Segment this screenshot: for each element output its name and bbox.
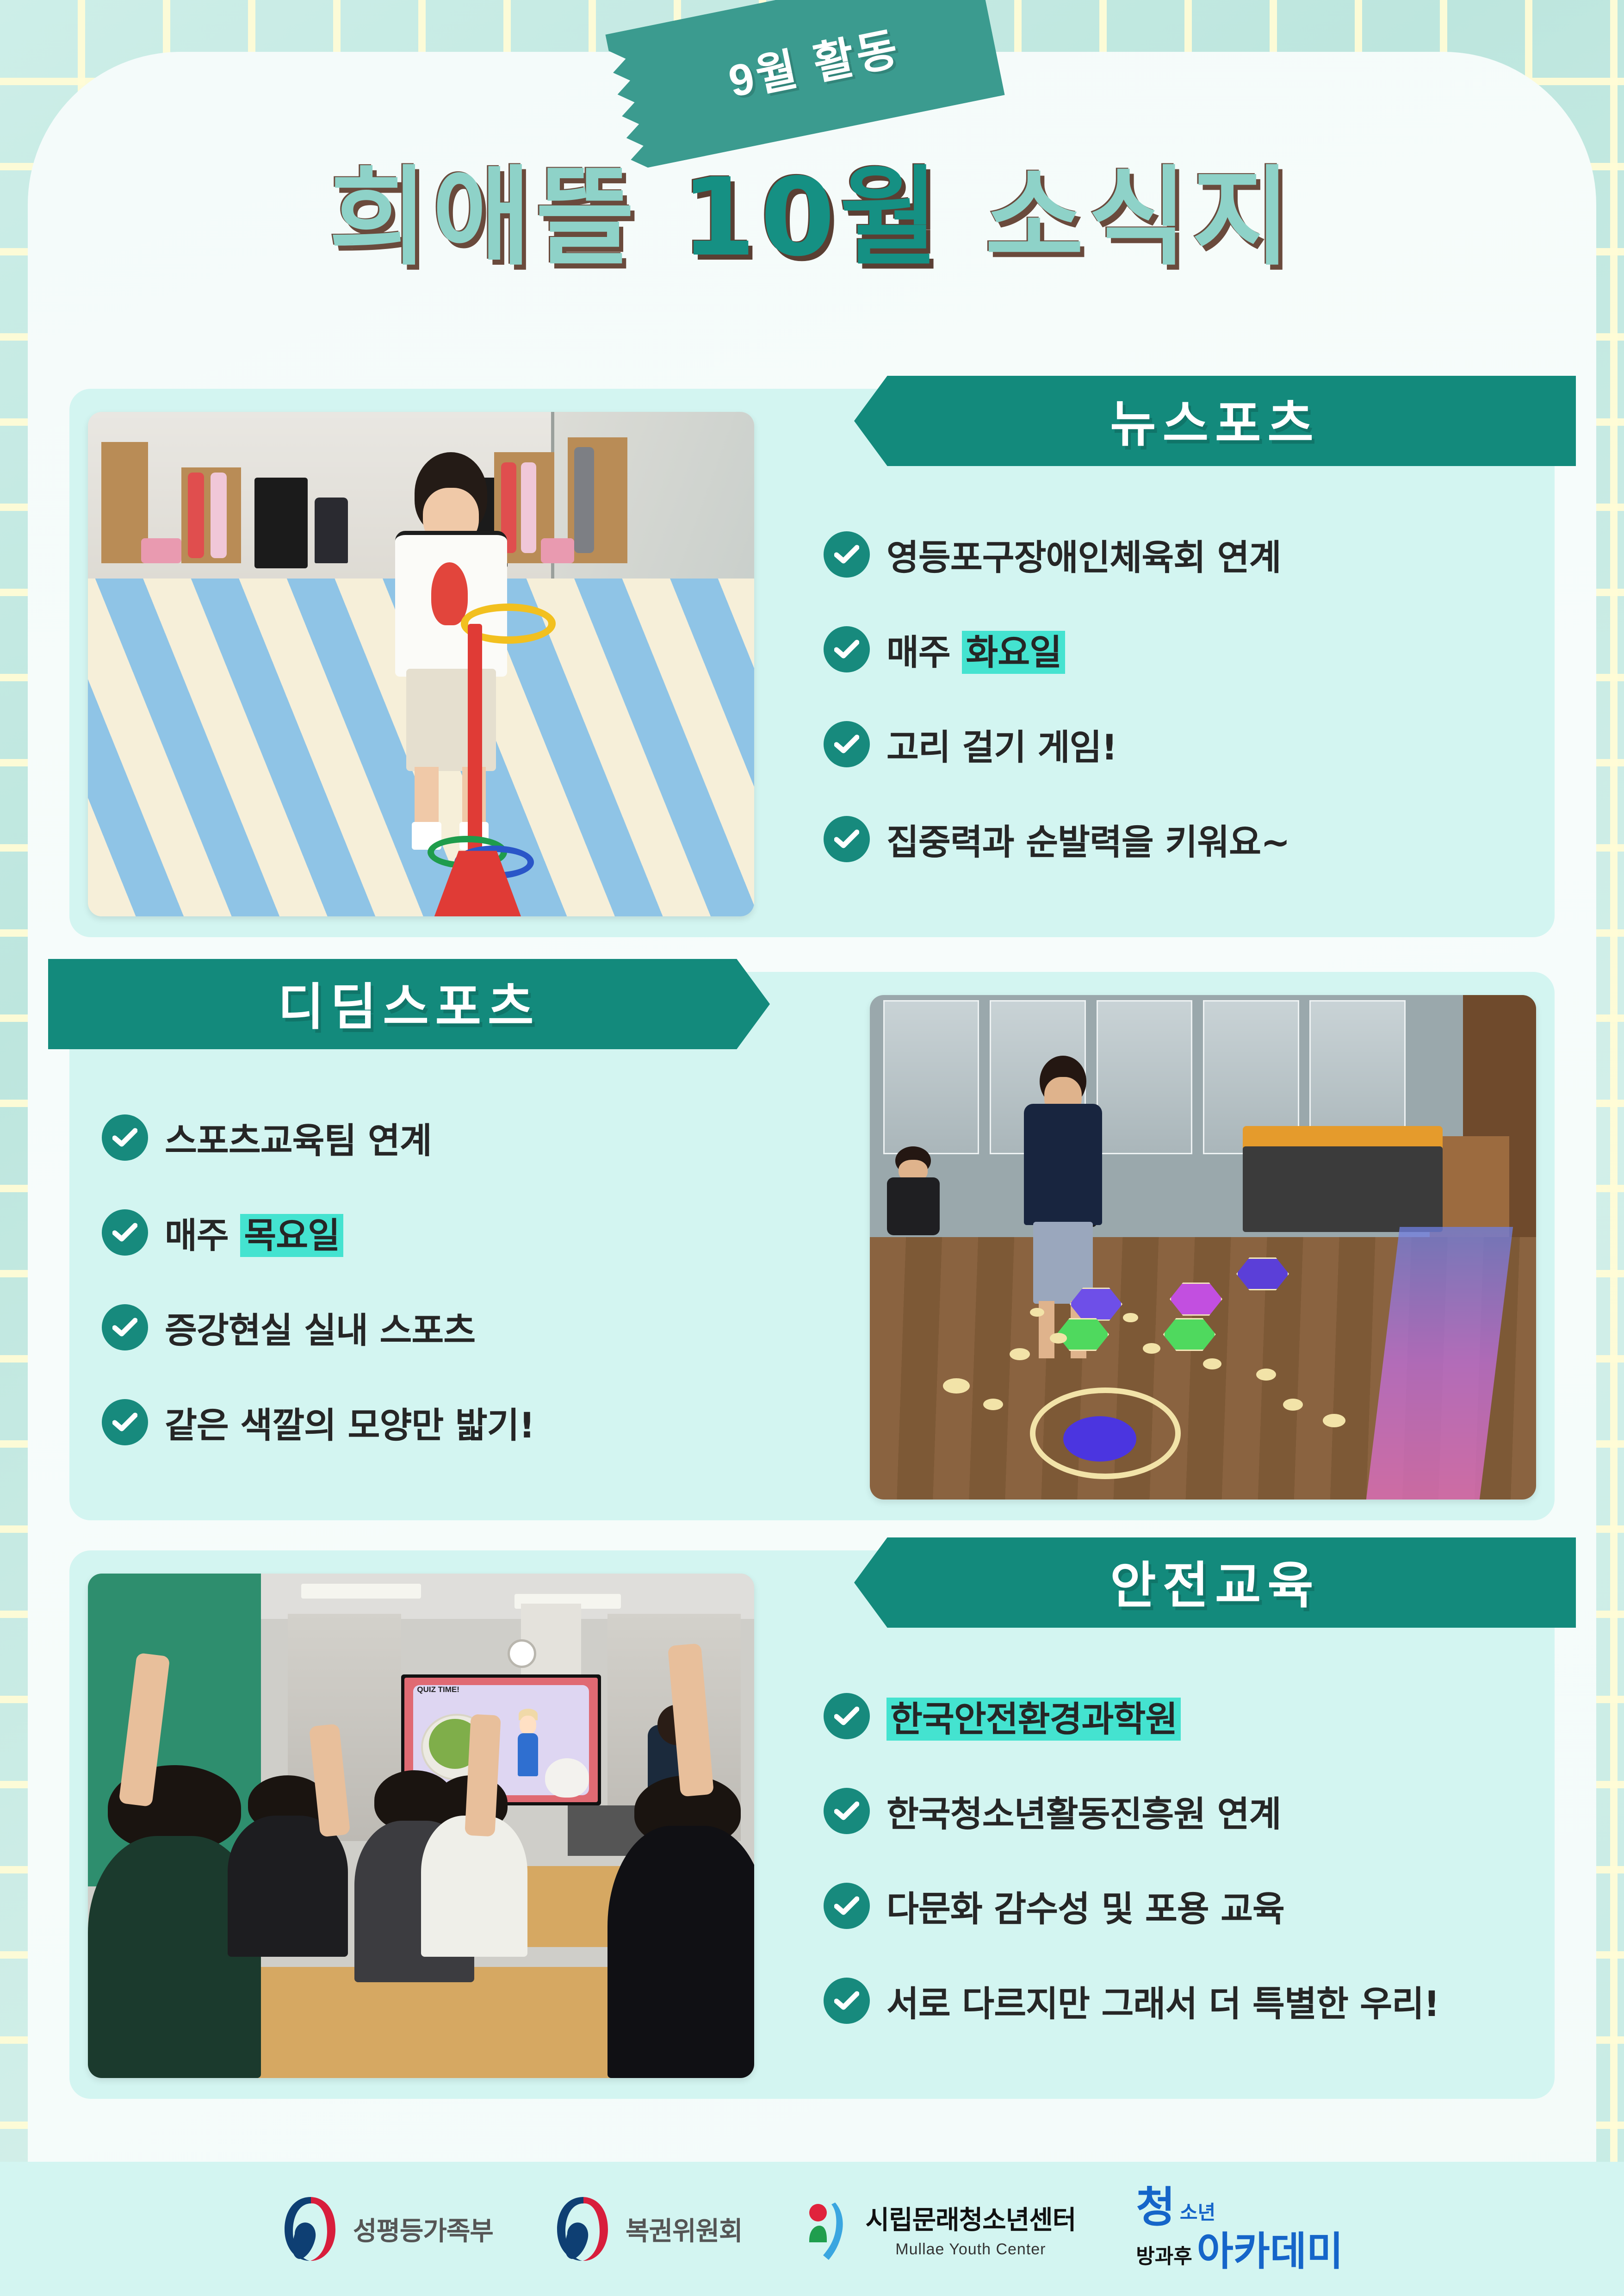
- taegeuk-icon: [281, 2194, 341, 2264]
- bullet-text-plain: 매주: [165, 1215, 240, 1256]
- bullet-item: 매주 화요일: [824, 602, 1522, 697]
- logo-label: 복권위원회: [626, 2210, 743, 2248]
- quiz-screen-label: QUIZ TIME!: [417, 1685, 459, 1694]
- section-banner-label: 안전교육: [1110, 1545, 1320, 1620]
- bullet-text: 매주 목요일: [165, 1207, 343, 1258]
- bullet-item: 같은 색깔의 모양만 밟기!: [102, 1375, 800, 1469]
- check-icon: [102, 1304, 148, 1350]
- title-part-3: 소식지: [985, 164, 1295, 271]
- mullae-person-icon: [803, 2194, 854, 2264]
- check-icon: [824, 1978, 870, 2024]
- bullet-text: 서로 다르지만 그래서 더 특별한 우리!: [886, 1975, 1439, 2026]
- logo-sublabel: Mullae Youth Center: [866, 2240, 1076, 2259]
- bullet-highlight: 목요일: [240, 1214, 343, 1257]
- logo-after-school-academy: 청 소년 방과후 아카데미: [1136, 2186, 1343, 2271]
- bullet-item: 영등포구장애인체육회 연계: [824, 507, 1522, 602]
- academy-academy: 아카데미: [1197, 2232, 1343, 2271]
- check-icon: [824, 531, 870, 578]
- page-title: 희애뜰 10월 소식지: [0, 153, 1624, 282]
- academy-wordmark: 청 소년 방과후 아카데미: [1136, 2186, 1343, 2271]
- bullet-item: 증강현실 실내 스포츠: [102, 1280, 800, 1375]
- title-part-2: 10월: [681, 164, 943, 271]
- photo-didim-sports: [870, 995, 1536, 1500]
- bullet-highlight: 한국안전환경과학원: [886, 1698, 1181, 1741]
- bullet-item: 다문화 감수성 및 포용 교육: [824, 1858, 1522, 1953]
- bullet-text: 같은 색깔의 모양만 밟기!: [165, 1397, 534, 1448]
- taegeuk-icon: [553, 2194, 614, 2264]
- bullet-item: 한국안전환경과학원: [824, 1668, 1522, 1763]
- academy-cheong: 청: [1136, 2186, 1175, 2229]
- bullet-text: 집중력과 순발력을 키워요~: [886, 814, 1290, 865]
- check-icon: [102, 1114, 148, 1161]
- check-icon: [824, 1883, 870, 1929]
- photo-new-sports: [88, 412, 754, 916]
- logo-mullae-youth-center: 시립문래청소년센터 Mullae Youth Center: [803, 2194, 1076, 2264]
- check-icon: [824, 721, 870, 767]
- logo-lottery-commission: 복권위원회: [553, 2194, 743, 2264]
- section-didim-sports: 디딤스포츠 스포츠교육팀 연계 매주 목요일 증강현실 실내 스포츠: [69, 972, 1555, 1520]
- bullet-text: 한국안전환경과학원: [886, 1691, 1181, 1742]
- bullet-text: 다문화 감수성 및 포용 교육: [886, 1880, 1284, 1931]
- check-icon: [824, 1788, 870, 1834]
- title-space-2: [943, 164, 985, 271]
- bullet-text: 고리 걸기 게임!: [886, 719, 1117, 770]
- bullet-highlight: 화요일: [962, 631, 1065, 674]
- bullet-list-safety-education: 한국안전환경과학원 한국청소년활동진흥원 연계 다문화 감수성 및 포용 교육 …: [824, 1668, 1522, 2048]
- bullet-item: 고리 걸기 게임!: [824, 697, 1522, 791]
- poster-root: 9월 활동 희애뜰 10월 소식지: [0, 0, 1624, 2296]
- check-icon: [824, 816, 870, 862]
- section-banner-didim-sports: 디딤스포츠: [48, 959, 770, 1049]
- title-part-1: 희애뜰: [329, 164, 639, 271]
- logo-label: 시립문래청소년센터: [866, 2199, 1076, 2237]
- bullet-text: 영등포구장애인체육회 연계: [886, 529, 1281, 580]
- bullet-text: 증강현실 실내 스포츠: [165, 1302, 475, 1353]
- section-banner-label: 디딤스포츠: [278, 967, 540, 1042]
- check-icon: [824, 626, 870, 672]
- academy-sonyeon: 소년: [1180, 2203, 1215, 2229]
- bullet-item: 스포츠교육팀 연계: [102, 1090, 800, 1185]
- bullet-text: 스포츠교육팀 연계: [165, 1112, 432, 1163]
- academy-banggwahu: 방과후: [1136, 2246, 1192, 2271]
- bullet-list-new-sports: 영등포구장애인체육회 연계 매주 화요일 고리 걸기 게임! 집중력과 순발력을…: [824, 507, 1522, 886]
- check-icon: [102, 1399, 148, 1445]
- bullet-text: 매주 화요일: [886, 624, 1065, 675]
- bullet-text-plain: 매주: [886, 632, 962, 673]
- section-safety-education: QUIZ TIME!: [69, 1550, 1555, 2099]
- section-banner-safety-education: 안전교육: [854, 1537, 1576, 1628]
- bullet-text: 한국청소년활동진흥원 연계: [886, 1786, 1281, 1836]
- bullet-item: 집중력과 순발력을 키워요~: [824, 791, 1522, 886]
- footer-logos: 성평등가족부 복권위원회 시립문래청소년센터: [0, 2162, 1624, 2296]
- check-icon: [824, 1693, 870, 1739]
- section-banner-label: 뉴스포츠: [1110, 384, 1320, 459]
- check-icon: [102, 1209, 148, 1256]
- title-space-1: [639, 164, 681, 271]
- section-banner-new-sports: 뉴스포츠: [854, 376, 1576, 466]
- bullet-item: 매주 목요일: [102, 1185, 800, 1280]
- section-new-sports: 뉴스포츠 영등포구장애인체육회 연계 매주 화요일 고리 걸기 게임!: [69, 389, 1555, 937]
- bullet-item: 서로 다르지만 그래서 더 특별한 우리!: [824, 1953, 1522, 2048]
- bullet-item: 한국청소년활동진흥원 연계: [824, 1763, 1522, 1858]
- photo-safety-education: QUIZ TIME!: [88, 1574, 754, 2078]
- logo-label: 성평등가족부: [353, 2210, 493, 2248]
- bullet-list-didim-sports: 스포츠교육팀 연계 매주 목요일 증강현실 실내 스포츠 같은 색깔의 모양만 …: [102, 1090, 800, 1469]
- logo-gender-equality-family: 성평등가족부: [281, 2194, 493, 2264]
